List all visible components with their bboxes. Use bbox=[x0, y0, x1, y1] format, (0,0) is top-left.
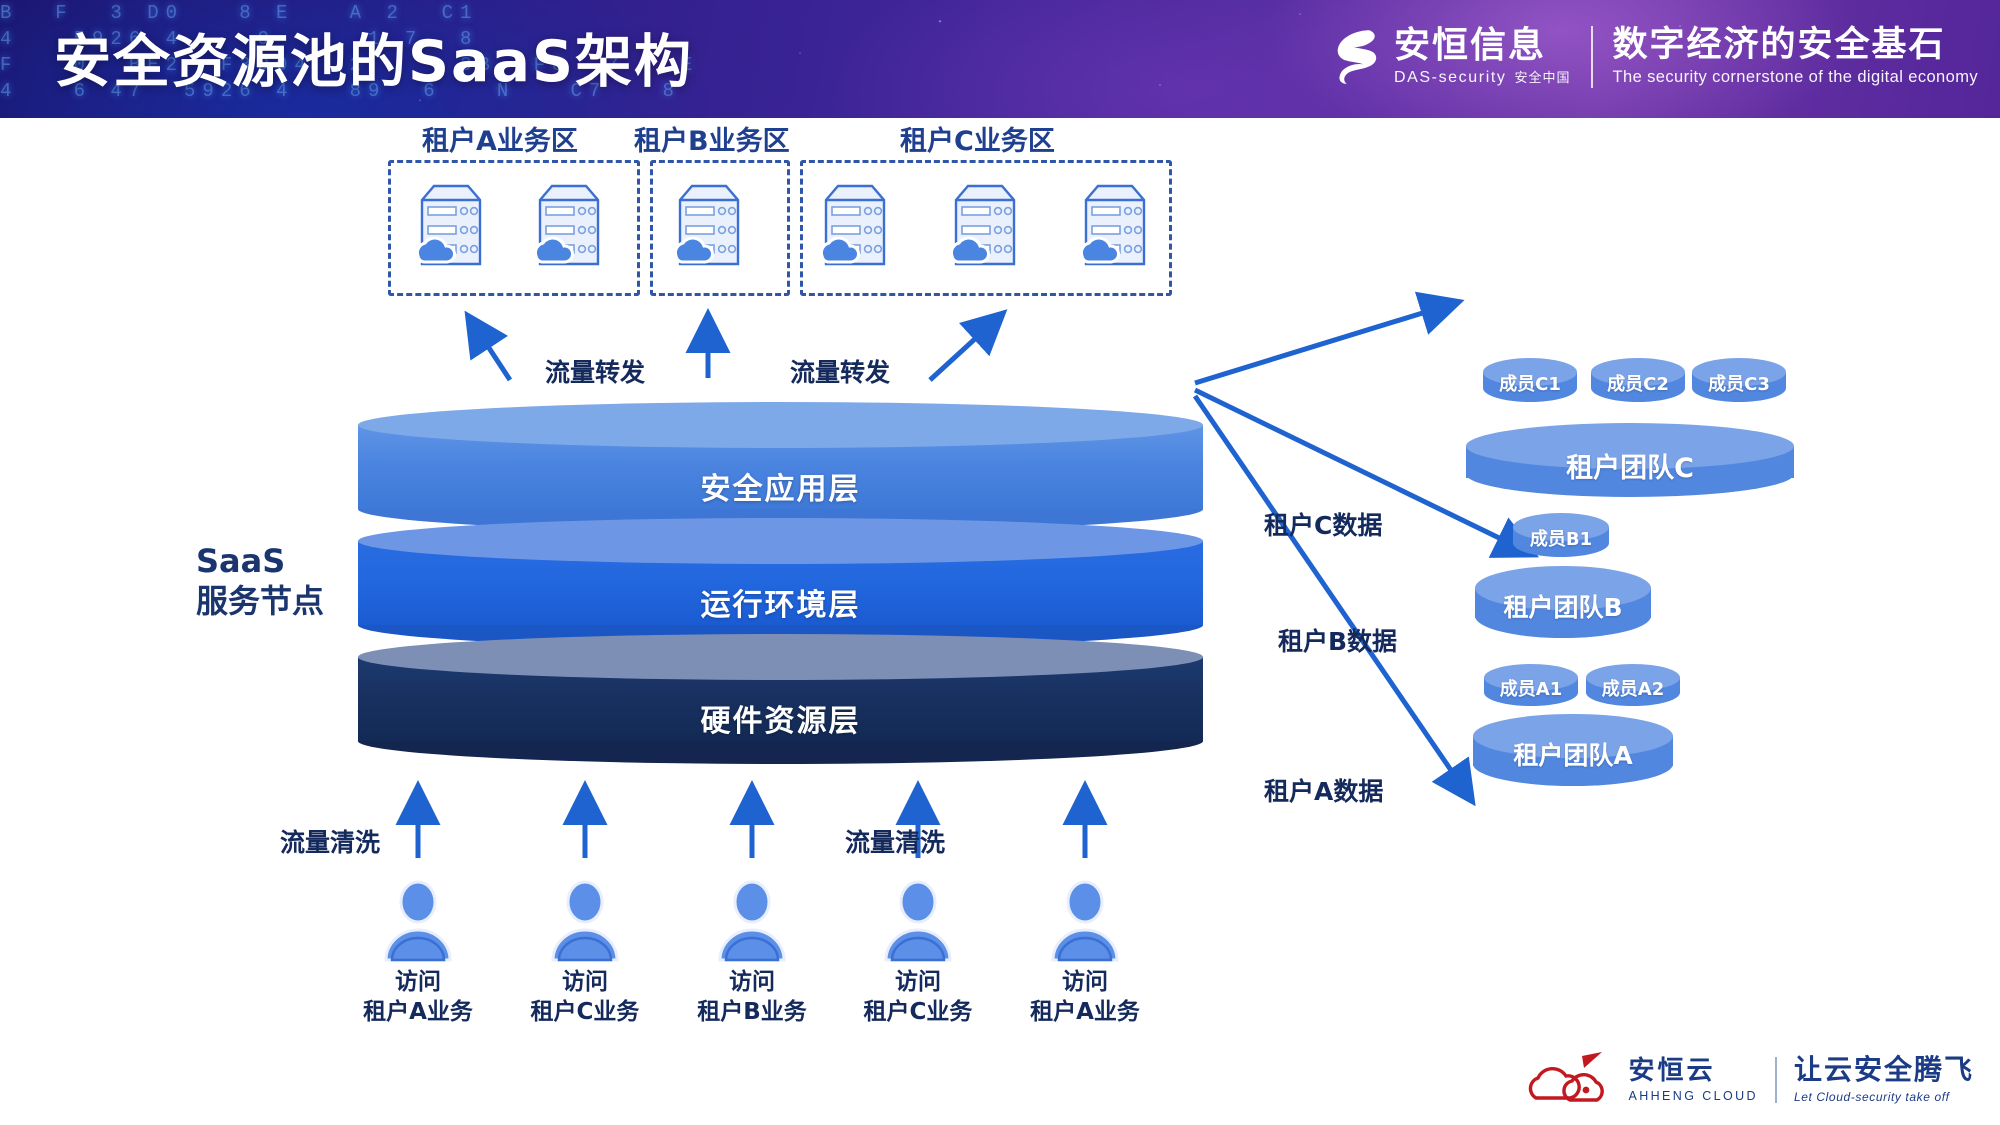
user-icon-5 bbox=[1047, 874, 1123, 969]
ahheng-cloud-logo-icon bbox=[1524, 1052, 1616, 1108]
person-icon bbox=[380, 874, 456, 964]
traffic-clean-label-2: 流量清洗 bbox=[845, 823, 945, 859]
stack-layer-label-2: 硬件资源层 bbox=[358, 696, 1203, 740]
server-c3 bbox=[1078, 180, 1152, 272]
diagram-canvas: 租户A业务区 bbox=[0, 118, 2000, 1125]
team-a-cylinder: 租户团队A bbox=[1473, 714, 1673, 786]
data-arrow-label-b: 租户B数据 bbox=[1278, 622, 1397, 658]
team-c-member-3-label: 成员C3 bbox=[1692, 370, 1786, 396]
stack-layer-security-app: 安全应用层 bbox=[358, 402, 1203, 532]
stack-layer-label-0: 安全应用层 bbox=[358, 464, 1203, 508]
zone-title-b: 租户B业务区 bbox=[634, 119, 790, 158]
team-b-member-1-label: 成员B1 bbox=[1513, 525, 1609, 551]
stack-layer-label-1: 运行环境层 bbox=[358, 580, 1203, 624]
team-a-member-1: 成员A1 bbox=[1484, 664, 1578, 708]
team-a-member-1-label: 成员A1 bbox=[1484, 675, 1578, 701]
das-security-logo-icon bbox=[1322, 24, 1388, 90]
page-header: B F 3 D0 8 E A 2 C1 4 5926 4 9 1 7 8 F 0… bbox=[0, 0, 2000, 118]
person-icon bbox=[547, 874, 623, 964]
team-c-member-3: 成员C3 bbox=[1692, 358, 1786, 404]
footer-brand-lockup: 安恒云 AHHENG CLOUD 让云安全腾飞 Let Cloud-securi… bbox=[1524, 1049, 1974, 1111]
user-label-5: 访问 租户A业务 bbox=[987, 968, 1183, 1028]
page-title: 安全资源池的SaaS架构 bbox=[54, 16, 693, 98]
team-a-member-2: 成员A2 bbox=[1586, 664, 1680, 708]
traffic-forward-label-2: 流量转发 bbox=[790, 353, 890, 389]
team-b-cylinder: 租户团队B bbox=[1475, 566, 1651, 638]
person-icon bbox=[880, 874, 956, 964]
saas-node-line2: 服务节点 bbox=[196, 581, 324, 621]
footer-slogan-cn: 让云安全腾飞 bbox=[1794, 1056, 1974, 1084]
person-icon bbox=[1047, 874, 1123, 964]
brand-en-text: DAS-security bbox=[1394, 69, 1507, 86]
server-b1 bbox=[672, 180, 746, 272]
team-c-cylinder: 租户团队C bbox=[1466, 423, 1794, 497]
stack-layer-runtime-env: 运行环境层 bbox=[358, 518, 1203, 648]
brand-en-sub: 安全中国 bbox=[1515, 70, 1571, 85]
team-c-member-2-label: 成员C2 bbox=[1591, 370, 1685, 396]
data-arrow-label-a: 租户A数据 bbox=[1264, 772, 1383, 808]
team-c-member-2: 成员C2 bbox=[1591, 358, 1685, 404]
server-c1 bbox=[818, 180, 892, 272]
user-icon-3 bbox=[714, 874, 790, 969]
brand-name-en: DAS-security安全中国 bbox=[1394, 67, 1571, 87]
zone-title-a: 租户A业务区 bbox=[422, 119, 578, 158]
user-icon-1 bbox=[380, 874, 456, 969]
brand-slogan-cn: 数字经济的安全基石 bbox=[1613, 27, 1978, 64]
team-b-member-1: 成员B1 bbox=[1513, 513, 1609, 559]
team-c-member-1: 成员C1 bbox=[1483, 358, 1577, 404]
brand-name-cn: 安恒信息 bbox=[1394, 27, 1571, 65]
saas-node-label: SaaS 服务节点 bbox=[196, 541, 324, 622]
team-c-member-1-label: 成员C1 bbox=[1483, 370, 1577, 396]
footer-brand-cn: 安恒云 bbox=[1628, 1058, 1758, 1084]
traffic-clean-label-1: 流量清洗 bbox=[280, 823, 380, 859]
user-icon-4 bbox=[880, 874, 956, 969]
server-c2 bbox=[948, 180, 1022, 272]
brand-lockup: 安恒信息 DAS-security安全中国 数字经济的安全基石 The secu… bbox=[1322, 14, 1978, 100]
brand-slogan-en: The security cornerstone of the digital … bbox=[1613, 68, 1978, 87]
data-arrow-label-c: 租户C数据 bbox=[1264, 506, 1382, 542]
brand-divider bbox=[1591, 26, 1593, 88]
user-label-5-line1: 访问 bbox=[987, 968, 1183, 998]
server-a1 bbox=[414, 180, 488, 272]
server-a2 bbox=[532, 180, 606, 272]
team-a-member-2-label: 成员A2 bbox=[1586, 675, 1680, 701]
user-label-5-line2: 租户A业务 bbox=[987, 998, 1183, 1028]
footer-slogan-en: Let Cloud-security take off bbox=[1794, 1090, 1974, 1104]
zone-title-c: 租户C业务区 bbox=[900, 119, 1055, 158]
team-a-label: 租户团队A bbox=[1473, 736, 1673, 772]
team-c-label: 租户团队C bbox=[1466, 446, 1794, 485]
footer-divider bbox=[1775, 1057, 1777, 1103]
team-b-label: 租户团队B bbox=[1475, 588, 1651, 624]
stack-layer-hardware: 硬件资源层 bbox=[358, 634, 1203, 764]
person-icon bbox=[714, 874, 790, 964]
user-icon-2 bbox=[547, 874, 623, 969]
traffic-forward-label-1: 流量转发 bbox=[545, 353, 645, 389]
traffic-clean-arrows bbox=[418, 790, 1085, 858]
footer-brand-en: AHHENG CLOUD bbox=[1628, 1089, 1758, 1103]
saas-node-line1: SaaS bbox=[196, 541, 324, 581]
